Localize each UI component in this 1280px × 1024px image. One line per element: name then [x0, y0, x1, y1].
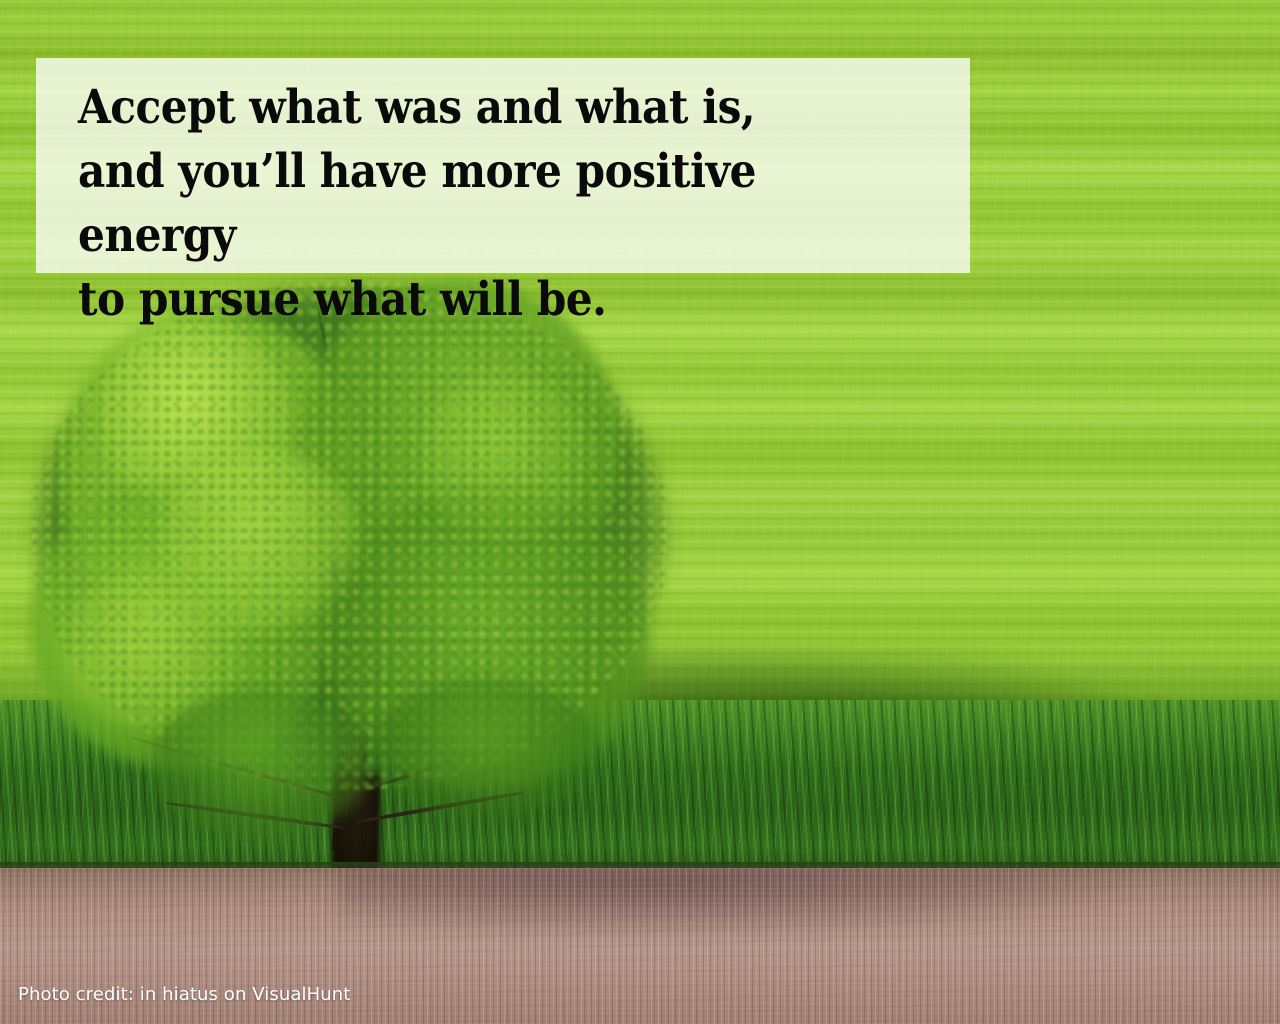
lone-tree: [0, 250, 700, 890]
tree-lower-foliage: [370, 680, 600, 820]
quote-text: Accept what was and what is, and you’ll …: [78, 76, 881, 332]
tree-lower-foliage: [150, 690, 370, 840]
quote-image-canvas: Accept what was and what is, and you’ll …: [0, 0, 1280, 1024]
photo-credit: Photo credit: in hiatus on VisualHunt: [18, 984, 350, 1005]
quote-overlay-panel: Accept what was and what is, and you’ll …: [36, 58, 970, 273]
